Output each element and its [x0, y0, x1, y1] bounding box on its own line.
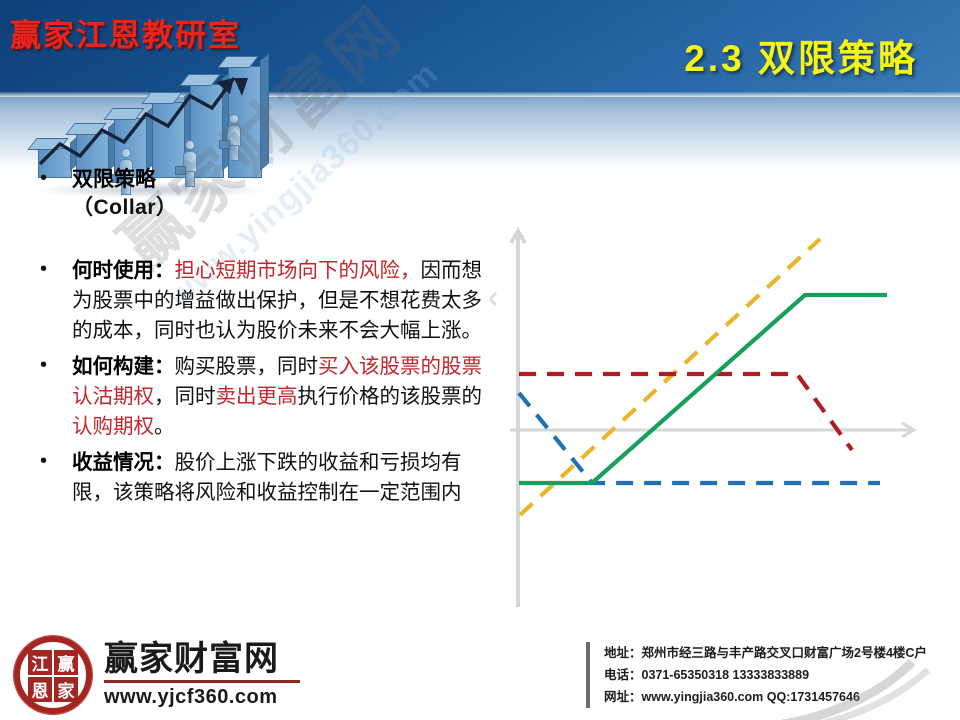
slide-canvas: 赢家江恩教研室 2.3 双限策略 赢家财富网 www.yingjia360.co…	[0, 0, 960, 720]
figure-icon	[226, 114, 242, 160]
series-line	[519, 374, 852, 450]
seal-char: 家	[54, 677, 78, 702]
seal-characters: 江 赢 恩 家	[28, 650, 78, 700]
list-item: 何时使用：担心短期市场向下的风险，因而想为股票中的增益做出保护，但是不想花费太多…	[30, 256, 490, 346]
bullet-text: 。	[154, 415, 175, 438]
bullet-colon: ：	[154, 451, 175, 474]
bullet-text: 执行价格的该股票的	[298, 385, 483, 408]
bullet-heading: 何时使用	[72, 259, 154, 282]
list-item: 收益情况：股价上涨下跌的收益和亏损均有限，该策略将风险和收益控制在一定范围内	[30, 448, 490, 508]
list-item: 双限策略 （Collar）	[30, 166, 490, 222]
divider	[104, 680, 300, 683]
seal-char: 江	[28, 650, 52, 675]
payoff-diagram	[490, 215, 940, 625]
bullet-text: ，同时	[154, 385, 216, 408]
bullet-text: 购买股票，同时	[175, 355, 319, 378]
bullet-heading: 收益情况	[72, 451, 154, 474]
bullet-highlight: 担心短期市场向下的风险，	[175, 259, 421, 282]
bullet-subtext: （Collar）	[72, 194, 490, 222]
bullet-heading: 如何构建	[72, 355, 154, 378]
bullet-heading: 双限策略	[72, 168, 156, 191]
bullet-colon: ：	[154, 355, 175, 378]
footer-brand-url[interactable]: www.yjcf360.com	[104, 686, 314, 709]
series-line	[519, 393, 880, 483]
series-line	[520, 239, 820, 515]
footer: 江 赢 恩 家 赢家财富网 www.yjcf360.com 地址：郑州市经三路与…	[0, 628, 960, 720]
payoff-chart-svg	[490, 215, 940, 625]
seal-char: 恩	[28, 677, 52, 702]
footer-brand: 赢家财富网 www.yjcf360.com	[104, 640, 314, 709]
left-marker	[490, 293, 496, 305]
content-body: 双限策略 （Collar） 何时使用：担心短期市场向下的风险，因而想为股票中的增…	[30, 166, 490, 516]
series-line	[519, 295, 887, 483]
seal-char: 赢	[54, 650, 78, 675]
brand-stamp-logo: 赢家江恩教研室	[10, 10, 241, 55]
bullet-colon: ：	[154, 259, 175, 282]
company-seal-icon: 江 赢 恩 家	[14, 636, 92, 714]
bullet-highlight: 认购期权	[72, 415, 154, 438]
decorative-swoosh	[782, 658, 942, 720]
bullet-highlight: 卖出更高	[216, 385, 298, 408]
page-title: 2.3 双限策略	[684, 28, 918, 82]
list-item: 如何构建：购买股票，同时买入该股票的股票认沽期权，同时卖出更高执行价格的该股票的…	[30, 352, 490, 442]
footer-brand-name: 赢家财富网	[104, 640, 314, 678]
